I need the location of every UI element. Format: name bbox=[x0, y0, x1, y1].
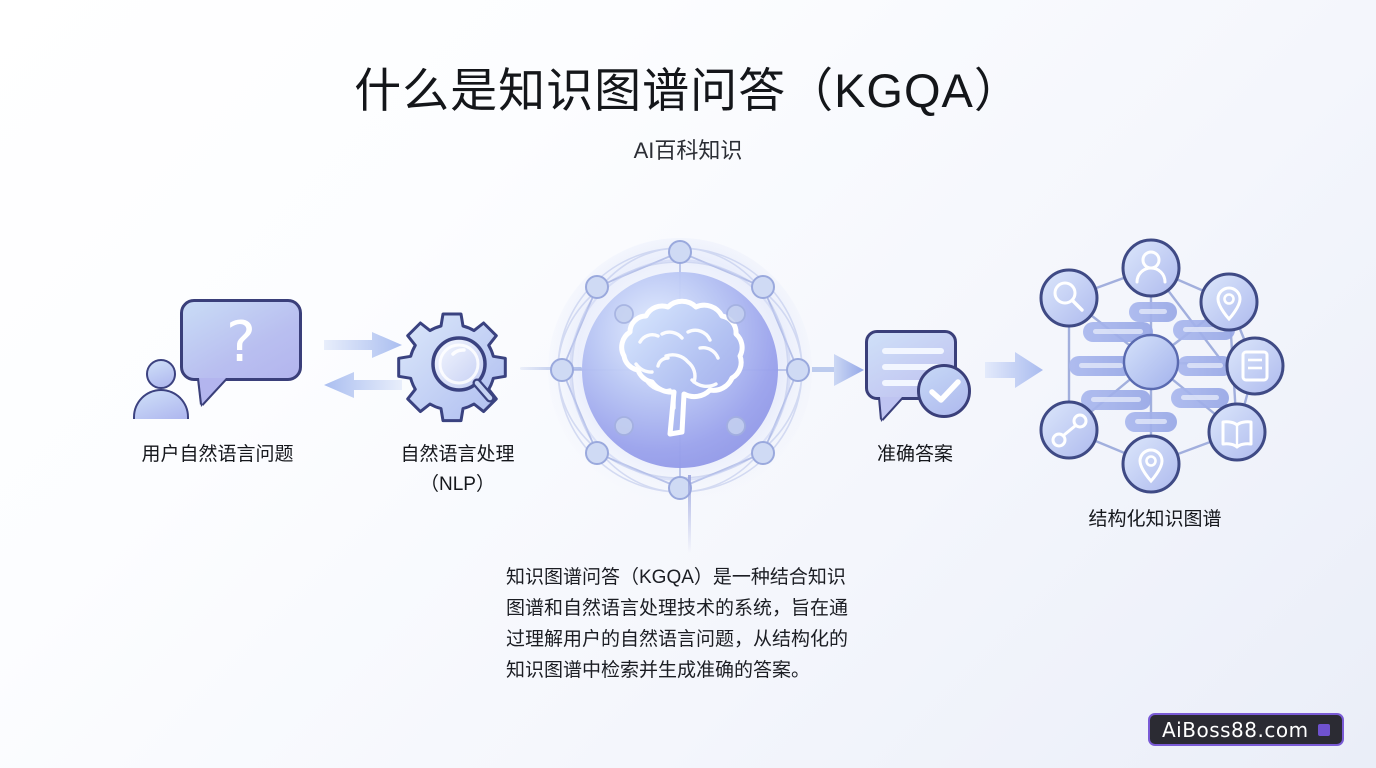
answer-text-line bbox=[882, 380, 922, 386]
step-brain-hub bbox=[540, 230, 820, 510]
brain-network-icon bbox=[540, 230, 820, 510]
step-label-nlp-line2: （NLP） bbox=[350, 470, 565, 500]
person-body-shape bbox=[133, 389, 189, 419]
arrow-brain-to-answer-icon bbox=[812, 348, 872, 392]
node-link-node bbox=[1041, 402, 1097, 458]
step-label-accurate-answer: 准确答案 bbox=[820, 440, 1010, 470]
watermark-square-icon bbox=[1318, 724, 1330, 736]
hub-node-icon bbox=[1124, 335, 1178, 389]
page-subtitle: AI百科知识 bbox=[0, 133, 1376, 165]
description-line-4: 知识图谱中检索并生成准确的答案。 bbox=[506, 655, 886, 686]
checkmark-icon bbox=[929, 379, 961, 405]
bubble-tail-shape bbox=[199, 378, 226, 404]
description-line-3: 过理解用户的自然语言问题，从结构化的 bbox=[506, 624, 886, 655]
magnifier-node bbox=[1041, 270, 1097, 326]
arrow-left-icon bbox=[324, 372, 402, 398]
description-text: 知识图谱问答（KGQA）是一种结合知识 图谱和自然语言处理技术的系统，旨在通 过… bbox=[506, 562, 886, 686]
arrow-right-icon bbox=[324, 332, 402, 358]
page-title: 什么是知识图谱问答（KGQA） bbox=[0, 52, 1376, 121]
person-node bbox=[1123, 240, 1179, 296]
answer-text-line bbox=[882, 348, 944, 354]
description-line-2: 图谱和自然语言处理技术的系统，旨在通 bbox=[506, 593, 886, 624]
step-knowledge-graph bbox=[1025, 232, 1285, 498]
description-line-1: 知识图谱问答（KGQA）是一种结合知识 bbox=[506, 562, 886, 593]
step-accurate-answer bbox=[865, 330, 975, 440]
answer-bubble-tail-shape bbox=[880, 397, 902, 419]
open-book-node bbox=[1209, 404, 1265, 460]
watermark-badge: AiBoss88.com bbox=[1148, 713, 1344, 746]
question-mark-glyph: ? bbox=[183, 306, 299, 380]
step-label-nlp-line1: 自然语言处理 bbox=[350, 440, 565, 470]
step-label-user-question: 用户自然语言问题 bbox=[95, 440, 340, 470]
watermark-text: AiBoss88.com bbox=[1162, 718, 1309, 742]
knowledge-graph-network-icon bbox=[1025, 232, 1285, 498]
book-node bbox=[1227, 338, 1283, 394]
step-label-knowledge-graph: 结构化知识图谱 bbox=[1040, 505, 1270, 535]
step-user-question: ? bbox=[125, 295, 310, 425]
gear-magnifier-icon bbox=[392, 310, 522, 430]
step-label-nlp: 自然语言处理 （NLP） bbox=[350, 440, 565, 500]
question-bubble-icon: ? bbox=[180, 299, 302, 381]
step-nlp bbox=[392, 310, 522, 430]
slide-canvas: 什么是知识图谱问答（KGQA） AI百科知识 ? 用户自然语言问题 bbox=[0, 0, 1376, 768]
person-head-shape bbox=[146, 359, 176, 389]
connector-brain-to-description bbox=[688, 475, 691, 553]
check-badge-icon bbox=[917, 364, 971, 418]
location-pin-node-bottom bbox=[1123, 436, 1179, 492]
location-pin-node-top bbox=[1201, 274, 1257, 330]
